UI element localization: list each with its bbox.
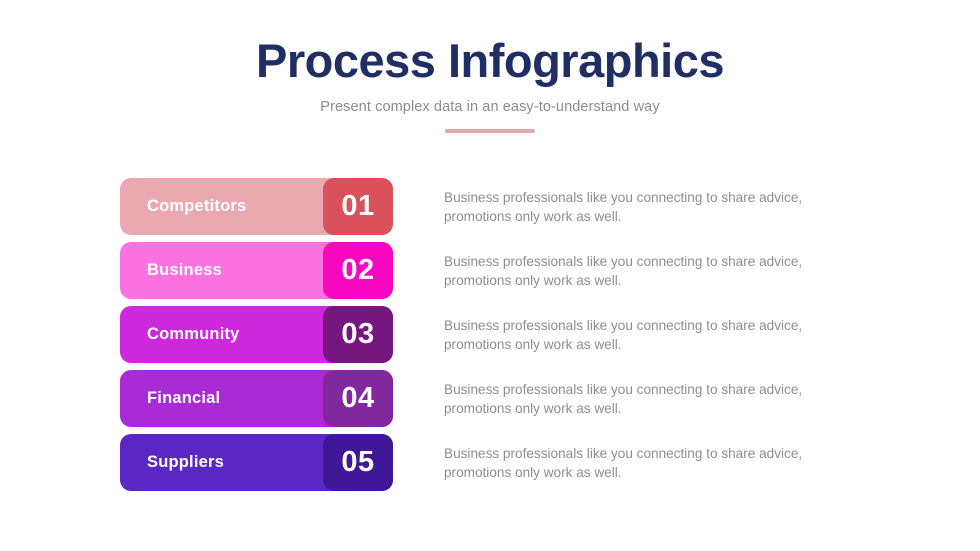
process-step-row: Suppliers05Business professionals like y… (0, 434, 980, 491)
step-number-badge: 05 (323, 434, 393, 491)
step-label: Community (147, 306, 240, 363)
step-bar[interactable]: Competitors01 (120, 178, 393, 235)
step-description: Business professionals like you connecti… (444, 316, 854, 355)
step-description: Business professionals like you connecti… (444, 188, 854, 227)
step-bar[interactable]: Suppliers05 (120, 434, 393, 491)
step-label: Business (147, 242, 222, 299)
title-divider (445, 129, 535, 133)
header-block: Process Infographics Present complex dat… (0, 36, 980, 133)
process-step-row: Financial04Business professionals like y… (0, 370, 980, 427)
step-label: Competitors (147, 178, 246, 235)
process-step-row: Competitors01Business professionals like… (0, 178, 980, 235)
step-bar[interactable]: Financial04 (120, 370, 393, 427)
step-number-badge: 03 (323, 306, 393, 363)
step-label: Suppliers (147, 434, 224, 491)
slide-canvas: Process Infographics Present complex dat… (0, 0, 980, 551)
page-title: Process Infographics (0, 36, 980, 85)
step-label: Financial (147, 370, 220, 427)
step-description: Business professionals like you connecti… (444, 252, 854, 291)
page-subtitle: Present complex data in an easy-to-under… (0, 99, 980, 115)
process-step-row: Community03Business professionals like y… (0, 306, 980, 363)
step-bar[interactable]: Community03 (120, 306, 393, 363)
process-step-row: Business02Business professionals like yo… (0, 242, 980, 299)
step-description: Business professionals like you connecti… (444, 380, 854, 419)
step-number-badge: 02 (323, 242, 393, 299)
step-number-badge: 04 (323, 370, 393, 427)
step-number-badge: 01 (323, 178, 393, 235)
step-description: Business professionals like you connecti… (444, 444, 854, 483)
step-bar[interactable]: Business02 (120, 242, 393, 299)
process-step-list: Competitors01Business professionals like… (0, 178, 980, 498)
